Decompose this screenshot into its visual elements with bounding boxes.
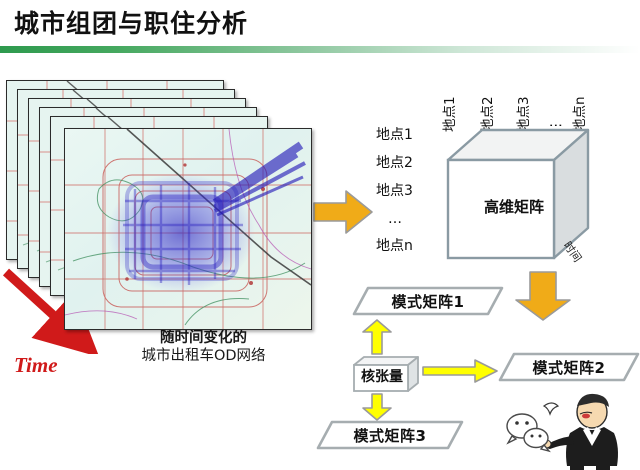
od-flow-heat-graphic xyxy=(65,129,311,329)
factor-matrix-3-label: 模式矩阵3 xyxy=(316,420,464,450)
page-title: 城市组团与职住分析 xyxy=(14,4,248,40)
map-layer-front xyxy=(64,128,312,330)
factor-matrix-1[interactable]: 模式矩阵1 xyxy=(352,286,504,316)
factor-matrix-2[interactable]: 模式矩阵2 xyxy=(498,352,640,382)
tensor-row-labels: 地点1 地点2 地点3 … 地点n xyxy=(376,128,440,267)
arrow-right-to-tensor-icon xyxy=(312,188,374,236)
wechat-logo-icon xyxy=(507,414,549,451)
tensor-row-label: 地点1 xyxy=(376,128,440,142)
core-tensor-label: 核张量 xyxy=(352,363,412,389)
left-panel-caption: 随时间变化的 城市出租车OD网络 xyxy=(96,330,311,365)
tensor-column-labels: 地点1 地点2 地点3 ⋮ 地点n xyxy=(440,72,600,132)
factor-matrix-2-label: 模式矩阵2 xyxy=(498,352,640,382)
caption-line-2: 城市出租车OD网络 xyxy=(96,347,311,365)
factor-matrix-1-label: 模式矩阵1 xyxy=(352,286,504,316)
slide-canvas: 城市组团与职住分析 xyxy=(0,0,640,470)
core-tensor-box[interactable]: 核张量 xyxy=(352,355,420,393)
arrow-down-to-factor3-icon xyxy=(361,392,393,422)
arrow-right-to-factor2-icon xyxy=(421,358,499,384)
tensor-row-label: 地点2 xyxy=(376,156,440,170)
caption-line-1: 随时间变化的 xyxy=(96,330,311,347)
time-axis-label: Time xyxy=(14,353,58,378)
factor-matrix-3[interactable]: 模式矩阵3 xyxy=(316,420,464,450)
tensor-column-label: 地点2 xyxy=(476,96,496,132)
tensor-column-label: 地点n xyxy=(568,96,588,132)
cartoon-businessman-figure xyxy=(500,392,640,470)
title-underline-bar xyxy=(0,46,640,53)
tensor-row-label: 地点3 xyxy=(376,184,440,198)
tensor-column-label: 地点3 xyxy=(512,96,532,132)
tensor-row-ellipsis: … xyxy=(376,212,440,226)
arrow-down-to-decomposition-icon xyxy=(512,270,574,322)
cube-label: 高维矩阵 xyxy=(448,196,580,217)
arrow-up-to-factor1-icon xyxy=(361,318,393,356)
tensor-column-label: 地点1 xyxy=(438,96,458,132)
tensor-row-label: 地点n xyxy=(376,239,440,253)
